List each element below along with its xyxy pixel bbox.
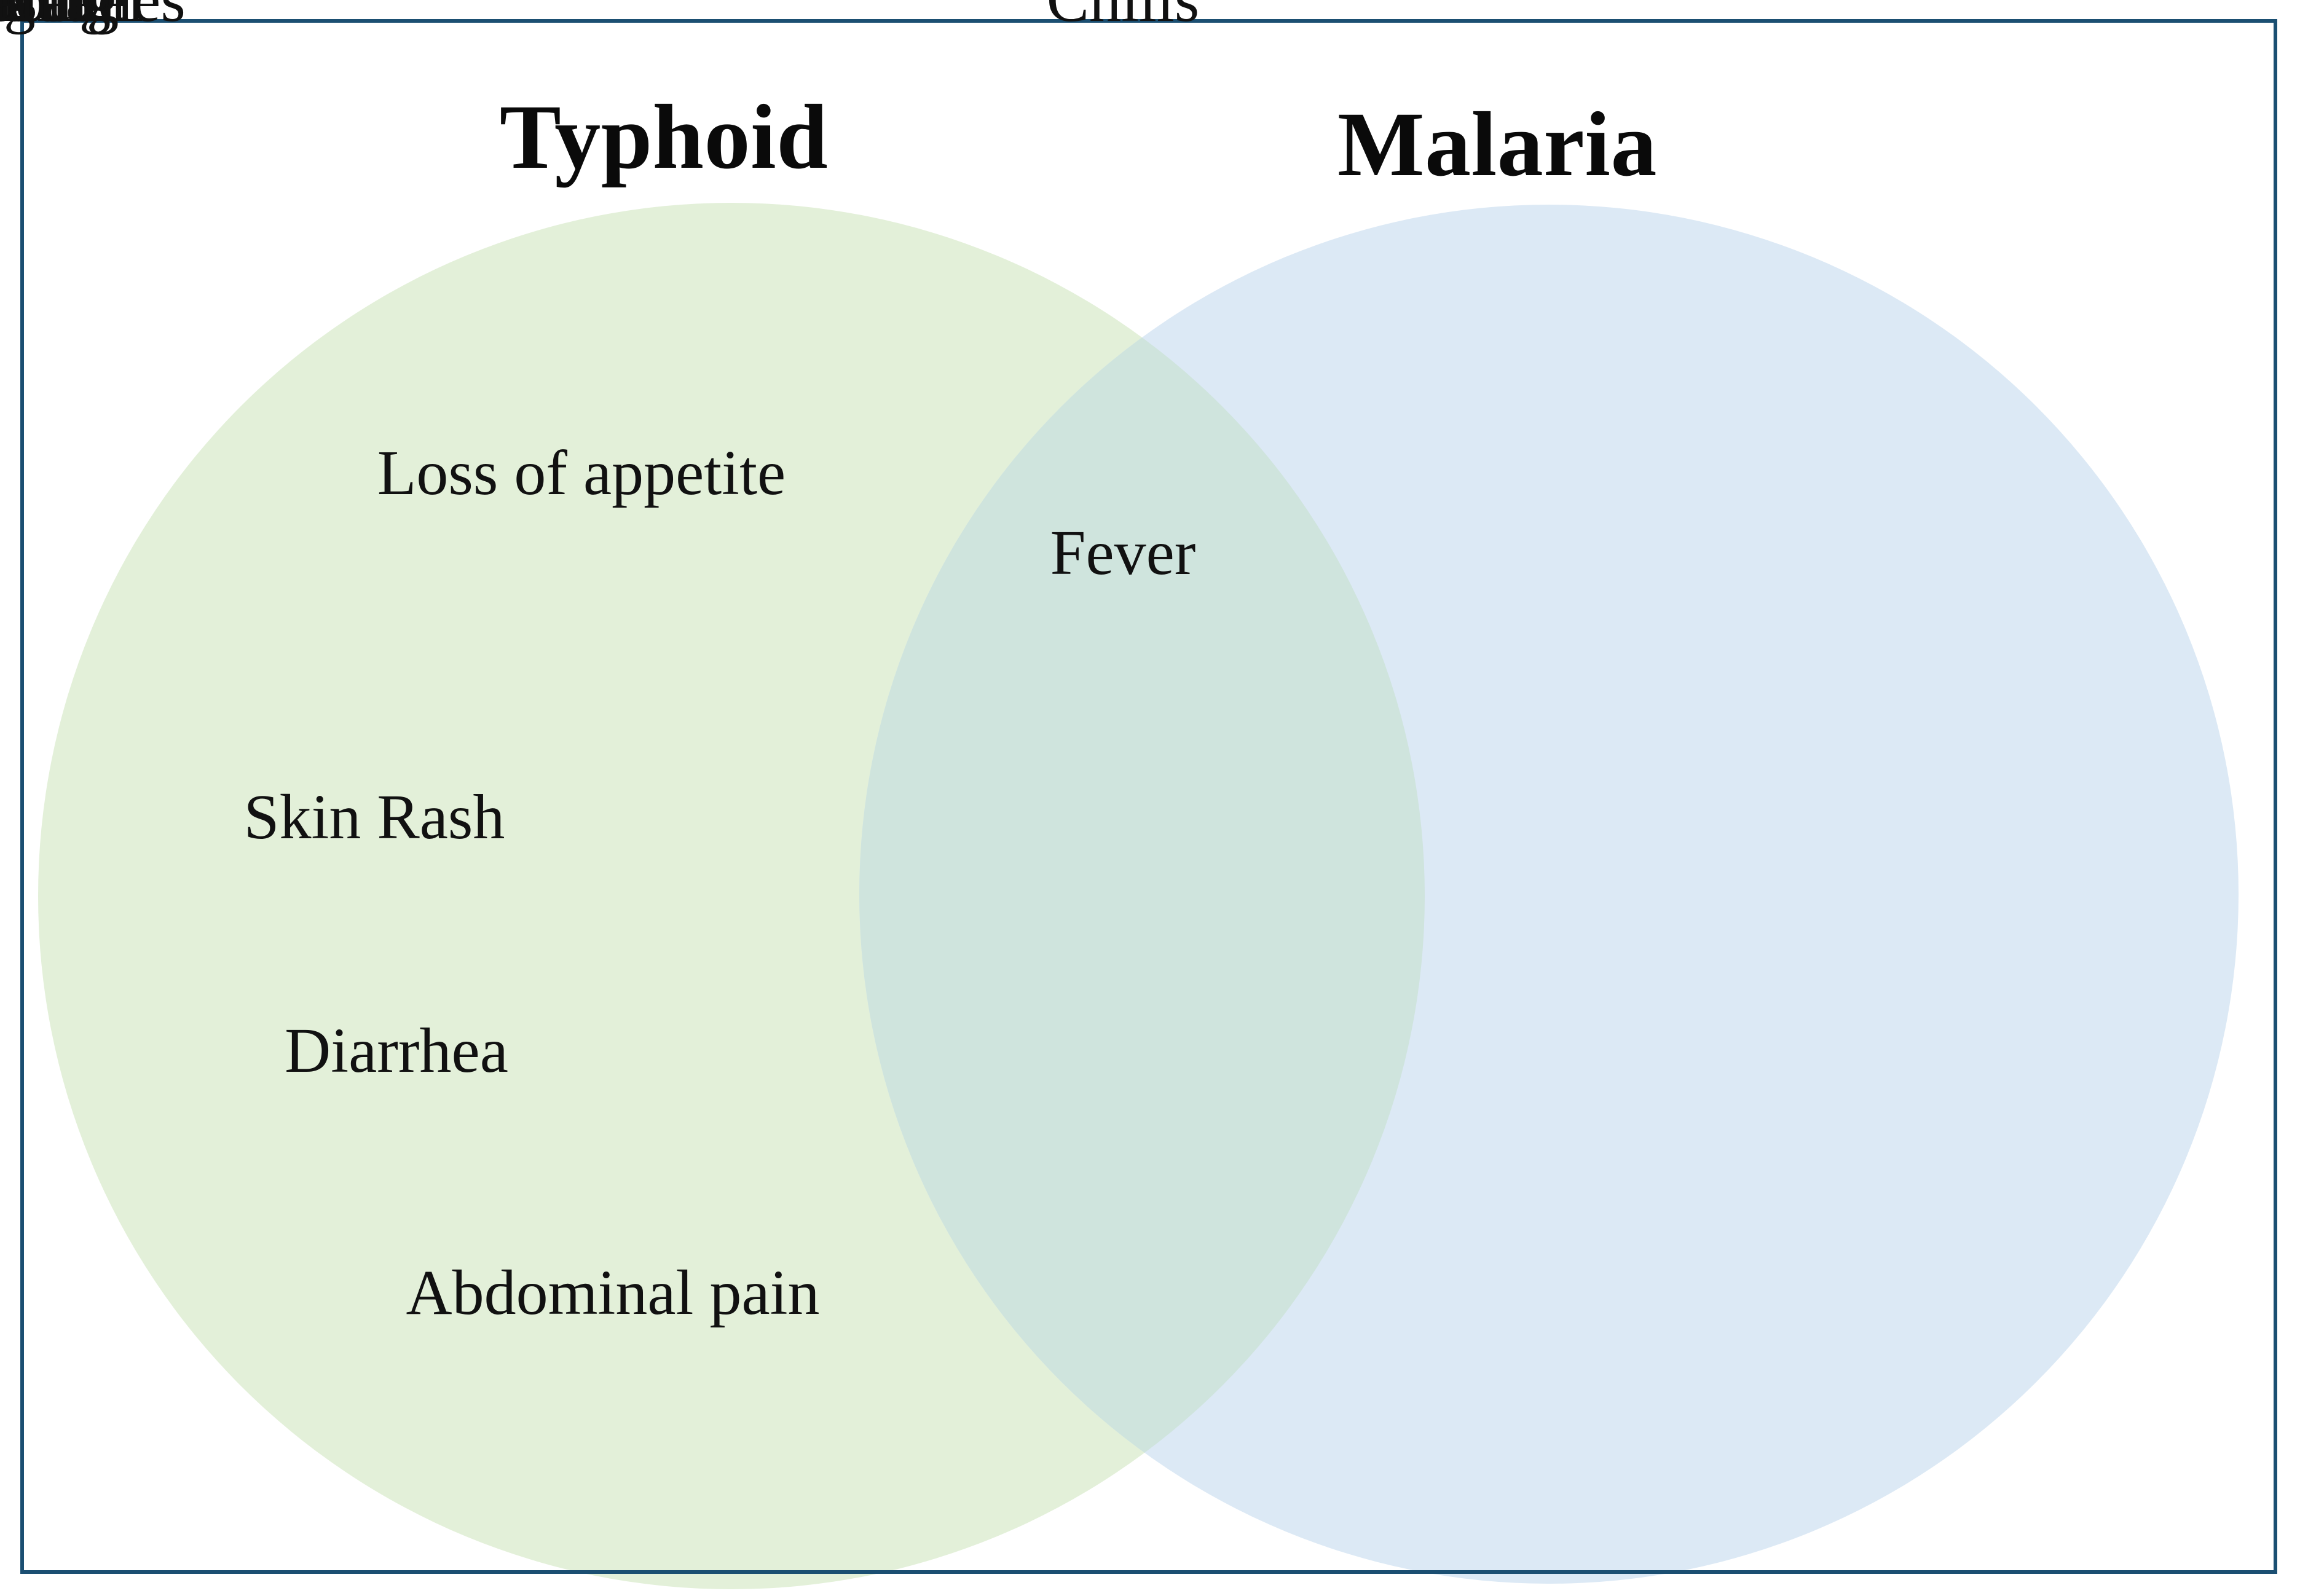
typhoid-title: Typhoid bbox=[500, 91, 828, 183]
typhoid-symptom-diarrhea: Diarrhea bbox=[285, 1019, 508, 1083]
typhoid-symptom-loss-of-appetite: Loss of appetite bbox=[377, 441, 786, 505]
malaria-symptom-sweating: Sweating bbox=[0, 0, 119, 32]
malaria-title: Malaria bbox=[1337, 98, 1657, 191]
shared-symptom-chills: Chills bbox=[1047, 0, 1200, 32]
shared-symptom-fever: Fever bbox=[1050, 521, 1196, 585]
venn-diagram-canvas: Typhoid Malaria Loss of appetite Skin Ra… bbox=[0, 0, 2300, 1596]
typhoid-symptom-skin-rash: Skin Rash bbox=[244, 785, 505, 849]
typhoid-symptom-abdominal-pain: Abdominal pain bbox=[406, 1261, 819, 1325]
